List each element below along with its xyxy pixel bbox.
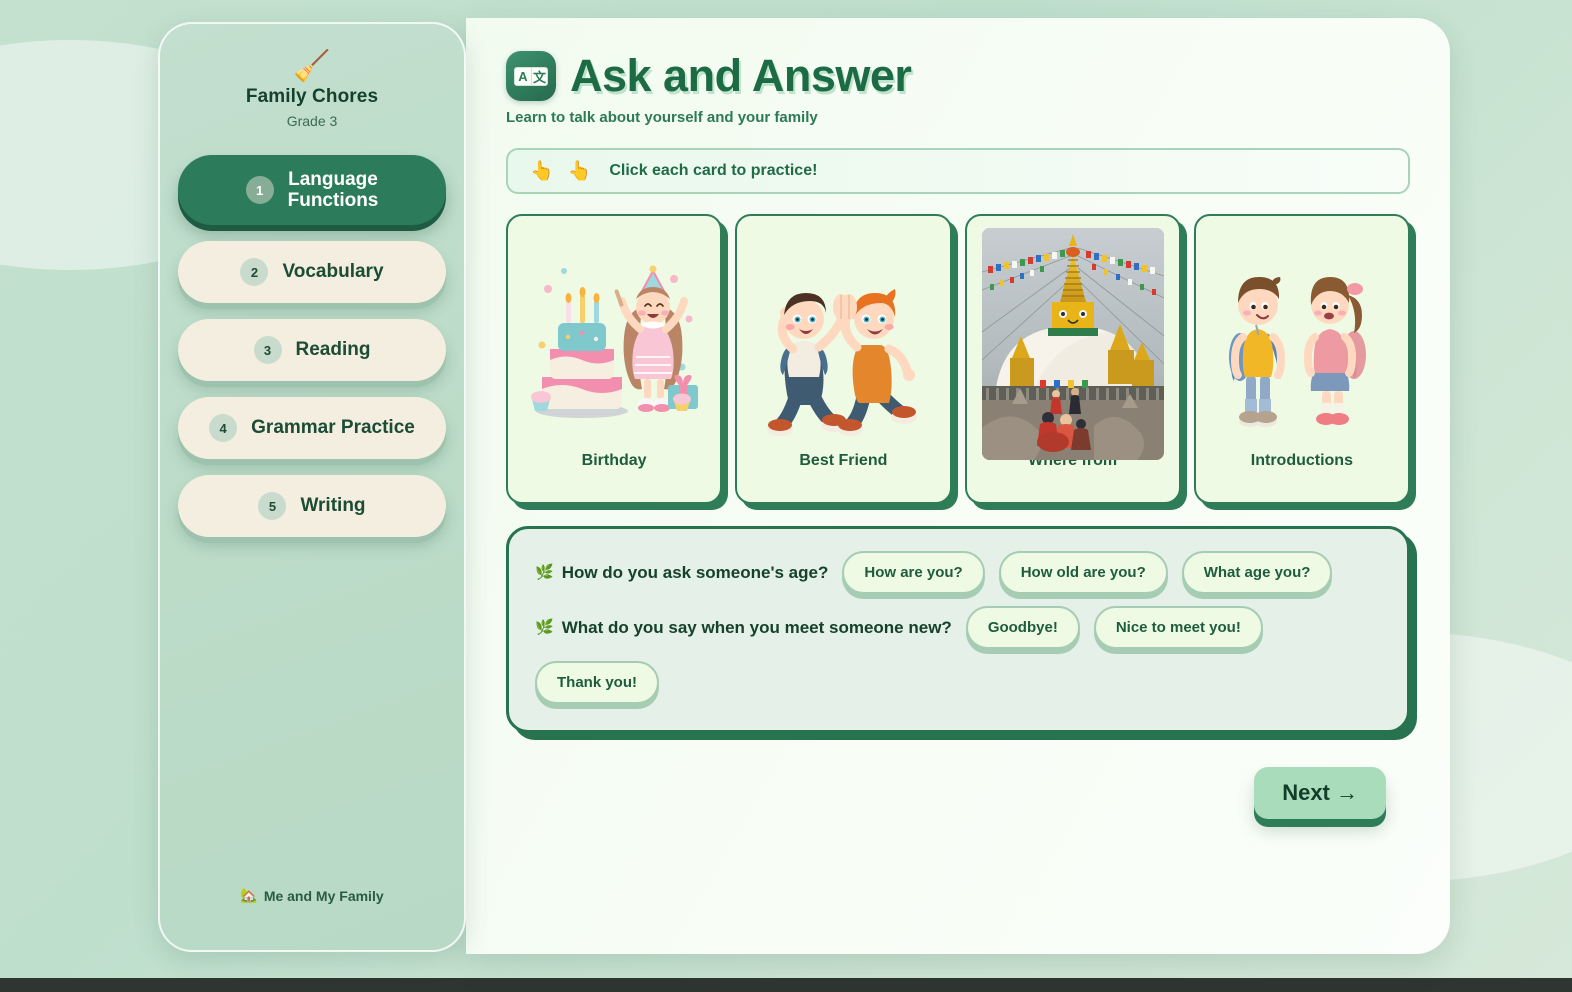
house-icon: 🏡 xyxy=(240,887,257,904)
sidebar: 🧹 Family Chores Grade 3 1 LanguageFuncti… xyxy=(158,22,466,952)
question-label: What do you say when you meet someone ne… xyxy=(562,618,952,638)
practice-card-where-from[interactable]: Where from xyxy=(965,214,1181,504)
step-badge-4: 4 xyxy=(209,414,237,442)
main-panel: A 文 Ask and Answer Learn to talk about y… xyxy=(466,18,1450,954)
practice-card-row: Birthday xyxy=(506,214,1410,504)
practice-card-birthday[interactable]: Birthday xyxy=(506,214,722,504)
practice-card-best-friend[interactable]: Best Friend xyxy=(735,214,951,504)
practice-card-label: Best Friend xyxy=(799,452,887,470)
bottom-strip xyxy=(0,978,1572,992)
lesson-nav: 1 LanguageFunctions 2 Vocabulary 3 Readi… xyxy=(178,155,446,537)
leaf-icon: 🌿 xyxy=(535,565,554,580)
translate-icon-letter: A xyxy=(515,68,531,85)
sidebar-item-label: LanguageFunctions xyxy=(288,169,379,212)
sidebar-item-language-functions[interactable]: 1 LanguageFunctions xyxy=(178,155,446,225)
qa-block-1: 🌿 How do you ask someone's age? How are … xyxy=(535,551,1381,594)
qa-block-2: 🌿 What do you say when you meet someone … xyxy=(535,606,1381,704)
step-badge-5: 5 xyxy=(258,492,286,520)
stupa-photo-frame xyxy=(982,228,1164,460)
practice-card-label: Introductions xyxy=(1251,452,1353,470)
question-label: How do you ask someone's age? xyxy=(562,563,829,583)
practice-card-introductions[interactable]: Introductions xyxy=(1194,214,1410,504)
instruction-banner: 👆 👆 Click each card to practice! xyxy=(506,148,1410,194)
question-answer-panel: 🌿 How do you ask someone's age? How are … xyxy=(506,526,1410,733)
unit-title: Family Chores xyxy=(246,86,378,108)
translate-icon: A 文 xyxy=(506,51,556,101)
sidebar-footer: 🏡 Me and My Family xyxy=(240,887,383,930)
pointing-up-icon: 👆 xyxy=(530,162,554,181)
sidebar-item-vocabulary[interactable]: 2 Vocabulary xyxy=(178,241,446,303)
pointing-up-icon-2: 👆 xyxy=(568,162,592,181)
step-badge-2: 2 xyxy=(240,258,268,286)
answer-option-1-2[interactable]: How old are you? xyxy=(999,551,1168,594)
stupa-photo xyxy=(979,246,1167,442)
step-badge-1: 1 xyxy=(246,176,274,204)
broom-icon: 🧹 xyxy=(293,52,330,82)
sidebar-footer-label: Me and My Family xyxy=(264,888,384,904)
step-badge-3: 3 xyxy=(254,336,282,364)
sidebar-item-label: Grammar Practice xyxy=(251,417,415,438)
grade-label: Grade 3 xyxy=(287,113,338,129)
sidebar-item-label: Reading xyxy=(296,339,371,360)
instruction-text: Click each card to practice! xyxy=(609,162,817,180)
next-button-row: Next → xyxy=(506,767,1410,819)
answer-option-2-1[interactable]: Goodbye! xyxy=(966,606,1080,649)
leaf-icon: 🌿 xyxy=(535,620,554,635)
question-text-2: 🌿 What do you say when you meet someone … xyxy=(535,618,952,638)
introductions-illustration xyxy=(1208,246,1396,442)
answer-option-1-3[interactable]: What age you? xyxy=(1182,551,1333,594)
next-button[interactable]: Next → xyxy=(1254,767,1386,819)
sidebar-item-label: Vocabulary xyxy=(282,261,383,282)
sidebar-item-grammar-practice[interactable]: 4 Grammar Practice xyxy=(178,397,446,459)
page-title: Ask and Answer xyxy=(570,50,911,102)
best-friend-illustration xyxy=(749,246,937,442)
page-header: A 文 Ask and Answer xyxy=(506,50,1410,102)
answer-option-2-3[interactable]: Thank you! xyxy=(535,661,659,704)
sidebar-item-reading[interactable]: 3 Reading xyxy=(178,319,446,381)
birthday-illustration xyxy=(520,246,708,442)
translate-icon-character: 文 xyxy=(531,68,547,85)
question-text-1: 🌿 How do you ask someone's age? xyxy=(535,563,828,583)
practice-card-label: Birthday xyxy=(582,452,647,470)
sidebar-item-writing[interactable]: 5 Writing xyxy=(178,475,446,537)
answer-option-1-1[interactable]: How are you? xyxy=(842,551,984,594)
page-subtitle: Learn to talk about yourself and your fa… xyxy=(506,109,1410,126)
answer-option-2-2[interactable]: Nice to meet you! xyxy=(1094,606,1263,649)
sidebar-item-label: Writing xyxy=(300,495,365,516)
